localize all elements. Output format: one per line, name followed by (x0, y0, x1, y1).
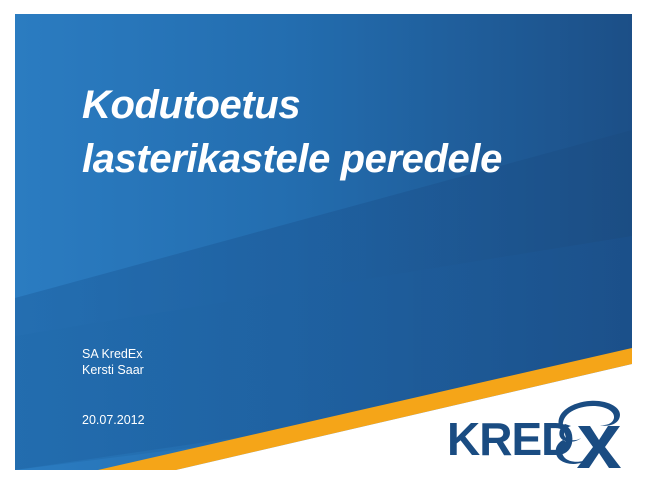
presentation-date: 20.07.2012 (82, 412, 145, 428)
title-line-2: lasterikastele peredele (82, 132, 622, 186)
presenter-block: SA KredEx Kersti Saar (82, 346, 144, 378)
logo-x-letter (577, 426, 621, 468)
title-line-1: Kodutoetus (82, 78, 622, 132)
logo-wordmark-text: KRED (447, 413, 573, 465)
presenter-name: Kersti Saar (82, 362, 144, 378)
organization-label: SA KredEx (82, 346, 144, 362)
page-title: Kodutoetus lasterikastele peredele (82, 78, 622, 186)
kredex-logo: KRED (447, 398, 627, 470)
presentation-slide: Kodutoetus lasterikastele peredele SA Kr… (0, 0, 650, 487)
